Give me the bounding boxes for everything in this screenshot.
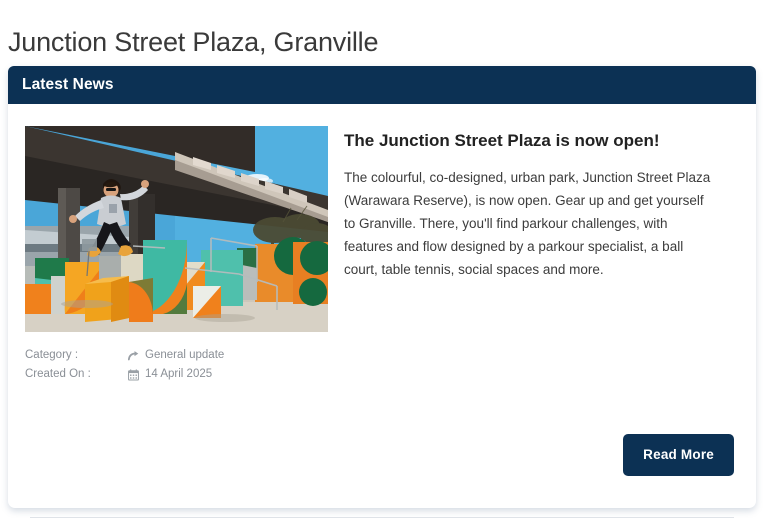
article-divider xyxy=(30,517,734,518)
share-arrow-icon xyxy=(128,350,145,362)
page-root: Junction Street Plaza, Granville Latest … xyxy=(0,0,770,532)
parkour-plaza-photo-icon xyxy=(25,126,328,332)
news-article: The Junction Street Plaza is now open! T… xyxy=(18,126,734,332)
card-header-title: Latest News xyxy=(22,76,114,94)
meta-label-category: Category : xyxy=(25,346,128,365)
page-title: Junction Street Plaza, Granville xyxy=(8,24,378,60)
meta-row-category: Category : General update xyxy=(25,346,734,365)
article-actions: Read More xyxy=(623,434,734,476)
latest-news-card: Latest News xyxy=(8,66,756,508)
card-header: Latest News xyxy=(8,66,756,104)
meta-label-created-on: Created On : xyxy=(25,365,128,384)
calendar-icon xyxy=(128,369,145,381)
meta-value-category: General update xyxy=(145,346,224,365)
article-thumbnail-link[interactable] xyxy=(25,126,328,332)
article-text-block: The Junction Street Plaza is now open! T… xyxy=(328,126,734,332)
meta-value-created-on: 14 April 2025 xyxy=(145,365,212,384)
article-meta: Category : General update Created On : xyxy=(25,346,734,384)
read-more-button[interactable]: Read More xyxy=(623,434,734,476)
article-body: The colourful, co-designed, urban park, … xyxy=(344,166,714,281)
meta-row-created-on: Created On : xyxy=(25,365,734,384)
article-thumbnail-wrap xyxy=(18,126,328,332)
card-body: The Junction Street Plaza is now open! T… xyxy=(8,104,756,384)
article-title[interactable]: The Junction Street Plaza is now open! xyxy=(344,130,714,152)
